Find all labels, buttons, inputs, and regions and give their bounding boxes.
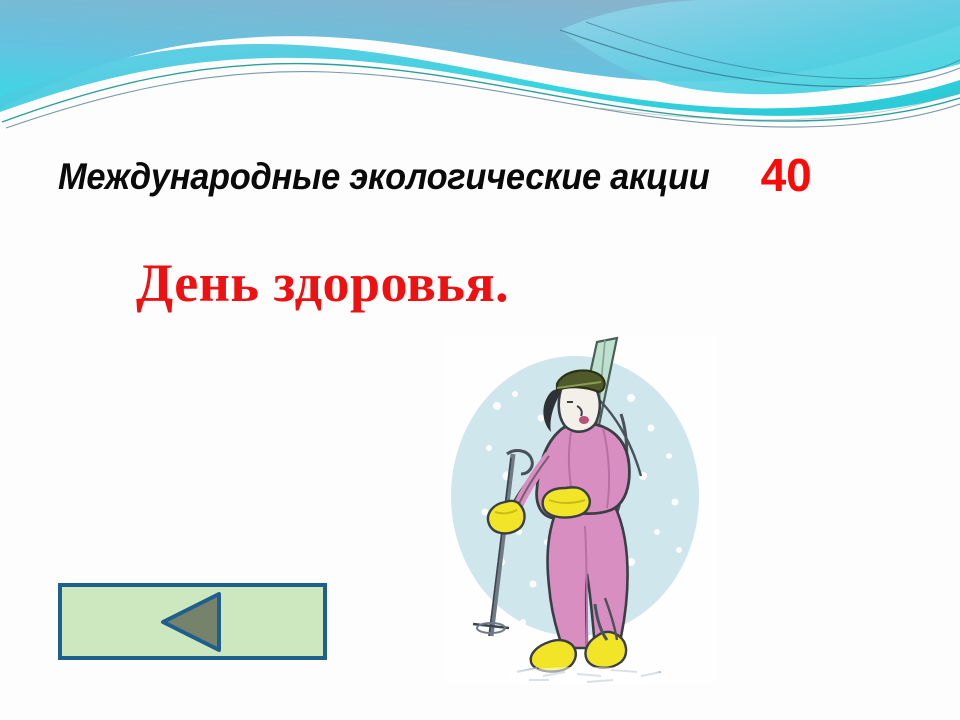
title-text: Международные экологические акции	[58, 156, 710, 198]
back-button[interactable]	[58, 583, 327, 660]
decorative-wave-banner	[0, 0, 960, 140]
page-title: Международные экологические акции 40	[58, 146, 918, 202]
slide: Международные экологические акции 40 Ден…	[0, 0, 960, 720]
answer-text: День здоровья.	[136, 252, 509, 314]
question-points: 40	[761, 148, 812, 202]
skier-clipart	[445, 336, 717, 684]
left-triangle-icon	[157, 591, 229, 653]
